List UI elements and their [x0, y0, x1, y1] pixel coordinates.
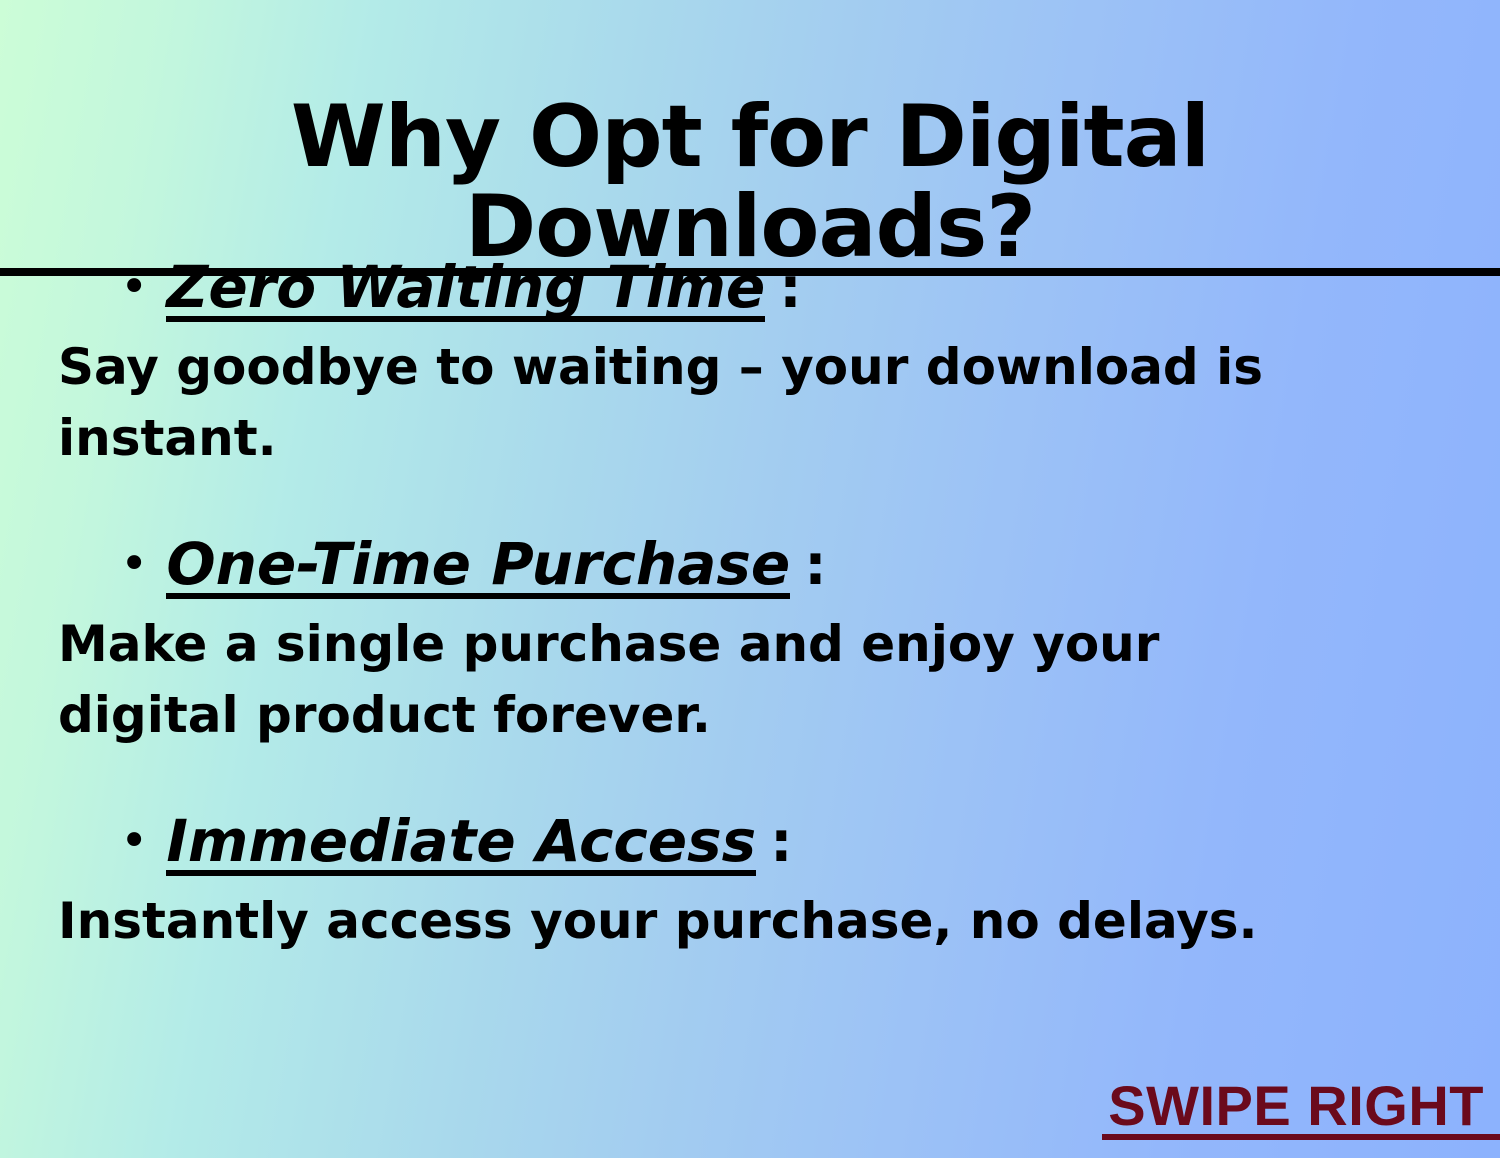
feature-separator: : — [770, 812, 792, 875]
feature-separator: : — [804, 535, 826, 598]
bullet-icon: • — [120, 540, 148, 588]
feature-heading: • Immediate Access : — [120, 809, 1448, 876]
list-item: • Zero Waiting Time : Say goodbye to wai… — [58, 255, 1448, 474]
feature-heading: • Zero Waiting Time : — [120, 255, 1448, 322]
feature-description: Make a single purchase and enjoy your di… — [58, 609, 1268, 751]
swipe-right-cta[interactable]: SWIPE RIGHT — [1108, 1077, 1484, 1140]
feature-title: One-Time Purchase — [166, 532, 790, 599]
feature-list: • Zero Waiting Time : Say goodbye to wai… — [58, 255, 1448, 957]
list-item: • Immediate Access : Instantly access yo… — [58, 809, 1448, 957]
feature-description: Say goodbye to waiting – your download i… — [58, 332, 1308, 474]
feature-title: Zero Waiting Time — [166, 255, 765, 322]
feature-heading: • One-Time Purchase : — [120, 532, 1448, 599]
bullet-icon: • — [120, 263, 148, 311]
list-item: • One-Time Purchase : Make a single purc… — [58, 532, 1448, 751]
feature-separator: : — [779, 258, 801, 321]
feature-title: Immediate Access — [166, 809, 756, 876]
page-title: Why Opt for Digital Downloads? — [0, 92, 1500, 277]
bullet-icon: • — [120, 817, 148, 865]
slide-canvas: Why Opt for Digital Downloads? • Zero Wa… — [0, 0, 1500, 1158]
feature-description: Instantly access your purchase, no delay… — [58, 886, 1308, 957]
